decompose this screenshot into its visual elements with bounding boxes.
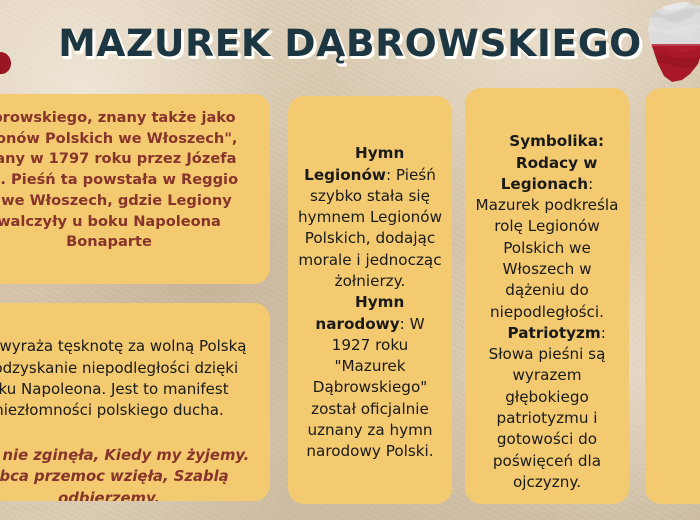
meaning-card-text: i wyraża tęsknotę za wolną Polską v odzy… [0, 337, 247, 419]
page-title: MAZUREK DĄBROWSKIEGO [0, 22, 700, 65]
poland-map-flag-icon [642, 0, 700, 92]
symbolism-card-body: Symbolika: Rodacy w Legionach: Mazurek p… [473, 110, 621, 504]
symbolism-body-2: : Słowa pieśni są wyrazem głębokiego pat… [489, 324, 611, 491]
trivia-card-body: Cieka Józef Auto b współp gener He Dąbro… [656, 110, 700, 493]
symbolism-body-1: : Mazurek podkreśla rolę Legionów Polski… [476, 175, 624, 321]
intro-card: ąbrowskiego, znany także jako gionów Pol… [0, 94, 270, 284]
intro-card-text: ąbrowskiego, znany także jako gionów Pol… [0, 108, 256, 253]
symbolism-heading-3: Patriotyzm [508, 324, 601, 342]
hymn-body-2: : W 1927 roku "Mazurek Dąbrowskiego" zos… [306, 315, 437, 461]
symbolism-card: Symbolika: Rodacy w Legionach: Mazurek p… [465, 88, 629, 504]
meaning-card-body: i wyraża tęsknotę za wolną Polską v odzy… [0, 315, 256, 501]
hymn-card-body: Hymn Legionów: Pieśń szybko stała się hy… [297, 122, 443, 484]
hymn-card: Hymn Legionów: Pieśń szybko stała się hy… [288, 96, 452, 504]
hymn-body-1: : Pieśń szybko stała się hymnem Legionów… [298, 166, 447, 290]
hymn-heading-2: Hymn narodowy [315, 293, 409, 332]
meaning-card-quote: ska nie zginęła, Kiedy my żyjemy. obca p… [0, 445, 256, 501]
trivia-card: Cieka Józef Auto b współp gener He Dąbro… [645, 88, 700, 504]
meaning-card: i wyraża tęsknotę za wolną Polską v odzy… [0, 303, 270, 501]
header: MAZUREK DĄBROWSKIEGO [0, 0, 700, 88]
symbolism-heading-1: Symbolika: [509, 132, 604, 150]
